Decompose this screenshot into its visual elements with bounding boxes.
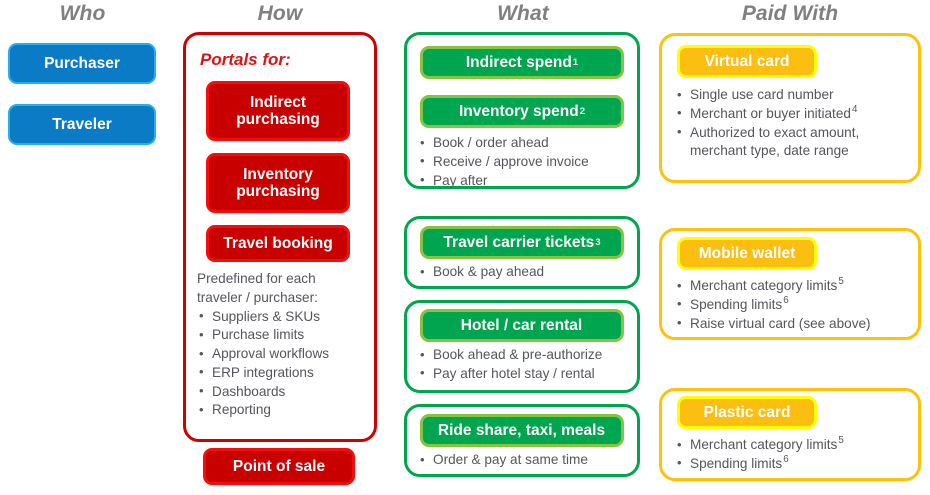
paid-with-plastic-card-bullets: Merchant category limits5 Spending limit… (675, 436, 844, 474)
pill-label: Plastic card (703, 404, 790, 421)
footnote-marker: 5 (837, 276, 843, 287)
what-group-hotel-car-bullets: Book ahead & pre-authorize Pay after hot… (418, 346, 602, 384)
pill-label: Virtual card (704, 53, 789, 70)
list-item: Raise virtual card (see above) (675, 315, 871, 334)
footnote-marker: 4 (851, 104, 857, 115)
list-item: Pay after hotel stay / rental (418, 365, 602, 384)
pill-label: Hotel / car rental (461, 317, 582, 334)
bullet-text: Merchant or buyer initiated (690, 106, 851, 121)
list-item: Reporting (197, 401, 329, 420)
paid-with-pill-mobile-wallet[interactable]: Mobile wallet (677, 237, 817, 270)
list-item: Order & pay at same time (418, 451, 588, 470)
list-item: Authorized to exact amount,merchant type… (675, 124, 859, 162)
pill-label: Inventory spend (459, 103, 579, 120)
pill-label: Mobile wallet (699, 245, 795, 262)
portal-label-line2: purchasing (236, 111, 320, 128)
column-header-what: What (398, 2, 648, 26)
pill-label: Indirect spend (466, 54, 572, 71)
list-item: Receive / approve invoice (418, 153, 589, 172)
paid-with-pill-virtual-card[interactable]: Virtual card (677, 45, 817, 78)
bullet-text: Merchant category limits (690, 437, 837, 452)
bullet-text: Merchant category limits (690, 278, 837, 293)
column-header-paid-with: Paid With (655, 2, 925, 26)
portal-label-line1: Indirect (250, 94, 306, 111)
list-item: Single use card number (675, 86, 859, 105)
predefined-line-1: Predefined for each (197, 270, 329, 289)
footnote-marker: 6 (782, 295, 788, 306)
how-portal-inventory-purchasing[interactable]: Inventory purchasing (206, 153, 350, 213)
what-pill-indirect-spend[interactable]: Indirect spend1 (420, 46, 624, 79)
list-item: Book / order ahead (418, 134, 589, 153)
what-pill-hotel-car-rental[interactable]: Hotel / car rental (420, 309, 624, 342)
how-predefined-bullets: Suppliers & SKUs Purchase limits Approva… (197, 308, 329, 421)
portal-label-line1: Inventory (243, 166, 313, 183)
payments-flow-diagram: Who How What Paid With Purchaser Travele… (0, 0, 930, 495)
paid-with-pill-plastic-card[interactable]: Plastic card (677, 396, 817, 429)
footnote-marker: 5 (837, 435, 843, 446)
bullet-text: Single use card number (690, 87, 834, 102)
who-item-traveler[interactable]: Traveler (8, 104, 156, 145)
list-item: ERP integrations (197, 364, 329, 383)
what-pill-travel-carrier-tickets[interactable]: Travel carrier tickets3 (420, 226, 624, 259)
pill-label: Ride share, taxi, meals (438, 422, 605, 439)
predefined-line-2: traveler / purchaser: (197, 289, 329, 308)
list-item: Purchase limits (197, 326, 329, 345)
list-item: Book & pay ahead (418, 263, 544, 282)
list-item: Merchant or buyer initiated4 (675, 105, 859, 124)
bullet-text: Spending limits (690, 456, 782, 471)
how-portal-indirect-purchasing[interactable]: Indirect purchasing (206, 81, 350, 141)
list-item: Merchant category limits5 (675, 436, 844, 455)
pill-label: Travel carrier tickets (443, 234, 594, 251)
what-group-ride-share-bullets: Order & pay at same time (418, 451, 588, 470)
bullet-text: Raise virtual card (see above) (690, 316, 871, 331)
list-item: Book ahead & pre-authorize (418, 346, 602, 365)
list-item: Suppliers & SKUs (197, 308, 329, 327)
list-item: Spending limits6 (675, 296, 871, 315)
what-pill-ride-share-taxi-meals[interactable]: Ride share, taxi, meals (420, 414, 624, 447)
list-item: Pay after (418, 172, 589, 191)
what-pill-inventory-spend[interactable]: Inventory spend2 (420, 95, 624, 128)
paid-with-mobile-wallet-bullets: Merchant category limits5 Spending limit… (675, 277, 871, 333)
bullet-text: Authorized to exact amount, (690, 125, 859, 140)
who-item-purchaser[interactable]: Purchaser (8, 43, 156, 84)
portal-label-line2: purchasing (236, 183, 320, 200)
what-group-spend-bullets: Book / order ahead Receive / approve inv… (418, 134, 589, 190)
portals-for-label: Portals for: (200, 50, 291, 70)
list-item: Merchant category limits5 (675, 277, 871, 296)
how-point-of-sale[interactable]: Point of sale (203, 448, 355, 485)
list-item: Approval workflows (197, 345, 329, 364)
list-item: Dashboards (197, 383, 329, 402)
column-header-how: How (185, 2, 375, 26)
what-group-travel-tickets-bullets: Book & pay ahead (418, 263, 544, 282)
bullet-text-continuation: merchant type, date range (690, 142, 859, 161)
how-predefined-text: Predefined for each traveler / purchaser… (197, 270, 329, 420)
bullet-text: Spending limits (690, 297, 782, 312)
how-portal-travel-booking[interactable]: Travel booking (206, 225, 350, 262)
paid-with-virtual-card-bullets: Single use card number Merchant or buyer… (675, 86, 859, 161)
footnote-marker: 6 (782, 454, 788, 465)
list-item: Spending limits6 (675, 455, 844, 474)
column-header-who: Who (0, 2, 165, 26)
